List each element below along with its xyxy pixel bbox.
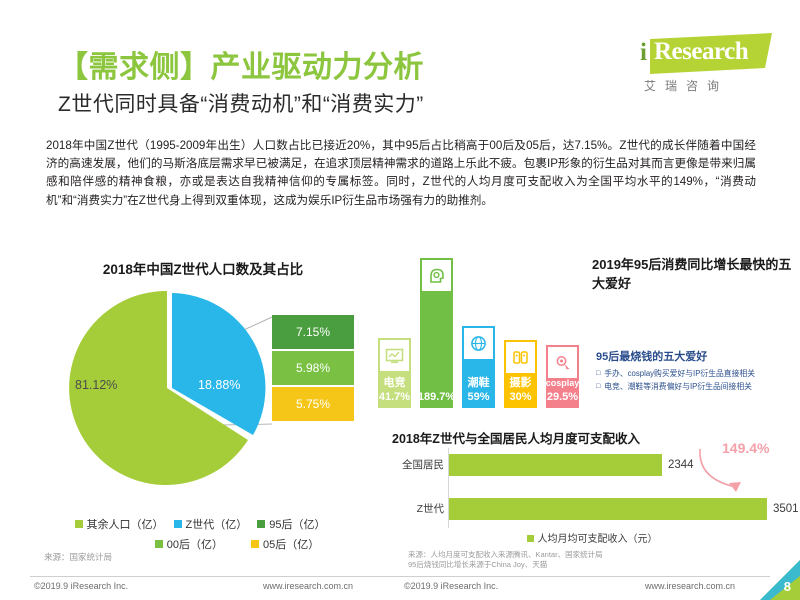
hobby-bar-body: 电竞 41.7% [378,371,411,408]
legend-item: Z世代（亿） [174,516,248,532]
camera-icon [504,340,537,373]
income-category-label: Z世代 [392,498,444,520]
legend-item: 00后（亿） [155,536,223,552]
body-paragraph: 2018年中国Z世代（1995-2009年出生）人口数占比已接近20%，其中95… [46,137,756,210]
legend-label: 其余人口（亿） [87,516,164,532]
hobby-name: 摄影 [510,377,532,390]
income-category-label: 全国居民 [392,454,444,476]
hobby-bar-figure: 手办 189.7% [420,258,453,408]
legend-label: 00后（亿） [167,536,223,552]
pie-slice-label-major: 81.12% [75,378,117,392]
growth-percentage-annotation: 149.4% [722,440,769,456]
legend-swatch [251,540,259,548]
hobby-value: 29.5% [547,390,578,404]
legend-item: 95后（亿） [257,516,325,532]
insight-note-title: 95后最烧钱的五大爱好 [596,348,796,364]
hobby-bar-cosplay: cosplay 29.5% [546,345,579,408]
insight-bullet: □ 手办、cosplay购买爱好与IP衍生品直接相关 [596,368,796,381]
legend-row: 00后（亿） 05后（亿） [40,536,360,552]
breakout-segment: 5.98% [272,351,354,385]
legend-item: 05后（亿） [251,536,319,552]
legend-swatch [155,540,163,548]
footer-copyright-left: ©2019.9 iResearch Inc. [34,581,128,591]
slide-root: 【需求侧】产业驱动力分析 Z世代同时具备“消费动机”和“消费实力” i Rese… [0,0,800,600]
breakout-segment: 5.75% [272,387,354,421]
bullet-square-icon: □ [596,381,600,394]
insight-note: 95后最烧钱的五大爱好 □ 手办、cosplay购买爱好与IP衍生品直接相关 □… [596,348,796,393]
pie-chart-title: 2018年中国Z世代人口数及其占比 [58,258,348,278]
logo-chinese-name: 艾瑞咨询 [644,77,728,94]
page-corner-decoration [756,560,800,600]
hobby-bar-sneakers: 潮鞋 59% [462,326,495,408]
hobby-name: 潮鞋 [468,377,490,390]
click-icon [546,345,579,378]
hobby-bar-body: cosplay 29.5% [546,378,579,408]
footer-url-left[interactable]: www.iresearch.com.cn [263,581,353,591]
legend-label: 95后（亿） [269,516,325,532]
hobby-chart-heading: 2019年95后消费同比增长最快的五大爱好 [592,255,797,293]
hobby-bar-body: 手办 189.7% [420,291,453,408]
income-bar-fill [449,454,662,476]
globe-icon [462,326,495,359]
pie-slice-label-minor: 18.88% [198,378,240,392]
monitor-icon [378,338,411,371]
pie-chart-legend: 其余人口（亿） Z世代（亿） 95后（亿） 00后（亿） 05后（亿） [40,516,360,556]
insight-bullet-text: 手办、cosplay购买爱好与IP衍生品直接相关 [604,368,755,381]
hobby-value: 30% [509,390,531,404]
hobby-bar-photography: 摄影 30% [504,340,537,408]
logo-letter-i: i [640,39,647,67]
page-title-rest: 产业驱动力分析 [211,51,425,84]
bullet-square-icon: □ [596,368,600,381]
footer-divider [30,576,770,577]
page-number: 8 [784,579,791,594]
income-chart-title: 2018年Z世代与全国居民人均月度可支配收入 [392,428,640,447]
insight-bullet: □ 电竞、潮鞋等消费偏好与IP衍生品间接相关 [596,381,796,394]
insight-bullet-text: 电竞、潮鞋等消费偏好与IP衍生品间接相关 [604,381,752,394]
legend-row: 其余人口（亿） Z世代（亿） 95后（亿） [40,516,360,532]
source-line-2: 95后烧钱同比增长来源于China Joy、天猫 [408,560,603,570]
legend-swatch [257,520,265,528]
footer-copyright-right: ©2019.9 iResearch Inc. [404,581,498,591]
hobby-bar-body: 潮鞋 59% [462,359,495,408]
legend-swatch [75,520,83,528]
hobby-name: cosplay [546,377,580,390]
legend-label: Z世代（亿） [186,516,248,532]
hobby-name: 电竞 [384,377,406,390]
legend-swatch [174,520,182,528]
pie-breakout-stack: 7.15% 5.98% 5.75% [272,315,354,423]
hobby-value: 189.7% [418,390,455,404]
hobby-value: 59% [467,390,489,404]
head-gear-icon [420,258,453,291]
iresearch-logo: i Research 艾瑞咨询 [632,33,772,95]
legend-swatch [527,535,534,542]
breakout-segment: 7.15% [272,315,354,349]
income-chart-legend: 人均月均可支配收入（元） [392,530,792,545]
page-title: 【需求侧】产业驱动力分析 [58,42,424,86]
source-line-1: 来源：人均月度可支配收入来源腾讯、Kantar、国家统计局 [408,550,603,560]
page-subtitle: Z世代同时具备“消费动机”和“消费实力” [58,88,424,118]
hobby-bar-body: 摄影 30% [504,373,537,408]
legend-item: 其余人口（亿） [75,516,164,532]
hobby-bar-esports: 电竞 41.7% [378,338,411,408]
logo-wordmark: Research [654,38,748,66]
hobby-bar-chart: 电竞 41.7% 手办 189.7% [378,246,578,408]
pie-source-note: 来源：国家统计局 [44,551,112,563]
hobby-value: 41.7% [379,390,410,404]
legend-label: 人均月均可支配收入（元） [538,534,658,545]
legend-label: 05后（亿） [263,536,319,552]
income-source-note: 来源：人均月度可支配收入来源腾讯、Kantar、国家统计局 95后烧钱同比增长来… [408,550,603,570]
page-title-bracket: 【需求侧】 [58,51,211,84]
footer-url-right[interactable]: www.iresearch.com.cn [645,581,735,591]
